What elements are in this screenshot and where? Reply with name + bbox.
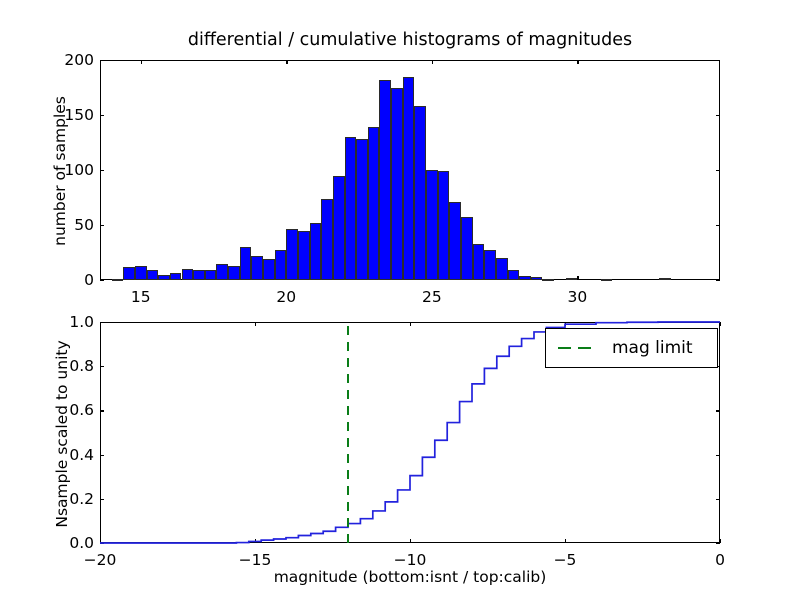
ytick-label: 1.0 <box>42 313 94 331</box>
histogram-bar <box>438 171 450 280</box>
histogram-bar <box>263 259 275 280</box>
histogram-bar <box>251 256 263 280</box>
histogram-bar <box>461 217 473 280</box>
tick-mark <box>716 280 720 281</box>
tick-mark <box>716 410 720 411</box>
histogram-bar <box>531 277 543 280</box>
histogram-bar <box>356 139 368 280</box>
tick-mark <box>716 225 720 226</box>
histogram-bar <box>368 127 380 280</box>
tick-mark <box>100 543 104 544</box>
figure-xlabel: magnitude (bottom:isnt / top:calib) <box>100 568 720 586</box>
tick-mark <box>716 60 720 61</box>
legend-entry-label: mag limit <box>612 338 693 358</box>
tick-mark <box>410 539 411 543</box>
histogram-bar <box>403 77 415 281</box>
tick-mark <box>100 455 104 456</box>
tick-mark <box>100 499 104 500</box>
histogram-bar <box>228 266 240 280</box>
tick-mark <box>716 115 720 116</box>
histogram-bar <box>321 199 333 280</box>
xtick-label: 30 <box>567 288 587 306</box>
tick-mark <box>577 276 578 280</box>
matplotlib-figure: differential / cumulative histograms of … <box>0 0 800 600</box>
tick-mark <box>716 170 720 171</box>
tick-mark <box>100 539 101 543</box>
tick-mark <box>565 322 566 326</box>
xtick-label: −5 <box>554 551 577 569</box>
tick-mark <box>565 539 566 543</box>
xtick-label: 0 <box>715 551 725 569</box>
ytick-label: 0 <box>42 271 94 289</box>
tick-mark <box>100 366 104 367</box>
histogram-bar <box>170 273 182 280</box>
legend-box[interactable]: mag limit <box>545 328 718 368</box>
ytick-label: 200 <box>42 51 94 69</box>
mag-limit-dashed-line-icon <box>556 341 598 355</box>
tick-mark <box>432 60 433 64</box>
histogram-bar <box>193 270 205 280</box>
tick-mark <box>720 539 721 543</box>
histogram-bar <box>508 270 520 280</box>
histogram-bar <box>542 279 554 281</box>
tick-mark <box>100 410 104 411</box>
histogram-bar <box>519 276 531 280</box>
tick-mark <box>410 322 411 326</box>
ytick-label: 0.2 <box>42 490 94 508</box>
ytick-label: 100 <box>42 161 94 179</box>
ytick-label: 0.4 <box>42 446 94 464</box>
histogram-bar <box>123 267 135 280</box>
xtick-label: 15 <box>131 288 151 306</box>
histogram-bar <box>275 250 287 280</box>
histogram-bar <box>240 247 252 280</box>
histogram-bar <box>310 223 322 280</box>
tick-mark <box>141 60 142 64</box>
tick-mark <box>100 115 104 116</box>
histogram-bar <box>449 202 461 280</box>
xtick-label: −20 <box>84 551 117 569</box>
tick-mark <box>255 322 256 326</box>
histogram-bar <box>333 176 345 281</box>
histogram-bar <box>601 279 613 281</box>
xtick-label: −10 <box>394 551 427 569</box>
bottom-axes-ylabel: Nsample scaled to unity <box>53 314 71 554</box>
tick-mark <box>720 322 721 326</box>
histogram-bar <box>205 270 217 280</box>
histogram-bar <box>216 264 228 281</box>
histogram-bar <box>345 137 357 280</box>
histogram-bar <box>484 250 496 280</box>
tick-mark <box>716 499 720 500</box>
histogram-bar <box>659 278 671 280</box>
histogram-bar <box>414 106 426 280</box>
ytick-label: 0.0 <box>42 534 94 552</box>
histogram-bar <box>391 88 403 281</box>
xtick-label: 25 <box>422 288 442 306</box>
histogram-bar <box>566 278 578 280</box>
histogram-bar <box>496 258 508 280</box>
xtick-label: −15 <box>239 551 272 569</box>
ytick-label: 150 <box>42 106 94 124</box>
tick-mark <box>100 60 104 61</box>
histogram-bar <box>379 80 391 280</box>
ytick-label: 0.6 <box>42 401 94 419</box>
histogram-bar <box>182 269 194 280</box>
ytick-label: 0.8 <box>42 357 94 375</box>
histogram-bar <box>147 270 159 280</box>
histogram-bar <box>286 229 298 280</box>
xtick-label: 20 <box>276 288 296 306</box>
tick-mark <box>716 455 720 456</box>
figure-title: differential / cumulative histograms of … <box>100 30 720 50</box>
tick-mark <box>100 170 104 171</box>
tick-mark <box>577 60 578 64</box>
tick-mark <box>100 322 101 326</box>
histogram-bar <box>112 279 124 281</box>
histogram-bar <box>135 266 147 280</box>
histogram-bar <box>473 244 485 280</box>
tick-mark <box>286 60 287 64</box>
tick-mark <box>100 280 104 281</box>
tick-mark <box>255 539 256 543</box>
tick-mark <box>100 225 104 226</box>
histogram-bar <box>158 275 170 281</box>
tick-mark <box>716 543 720 544</box>
ytick-label: 50 <box>42 216 94 234</box>
histogram-bar <box>426 170 438 280</box>
histogram-bar <box>298 231 310 281</box>
